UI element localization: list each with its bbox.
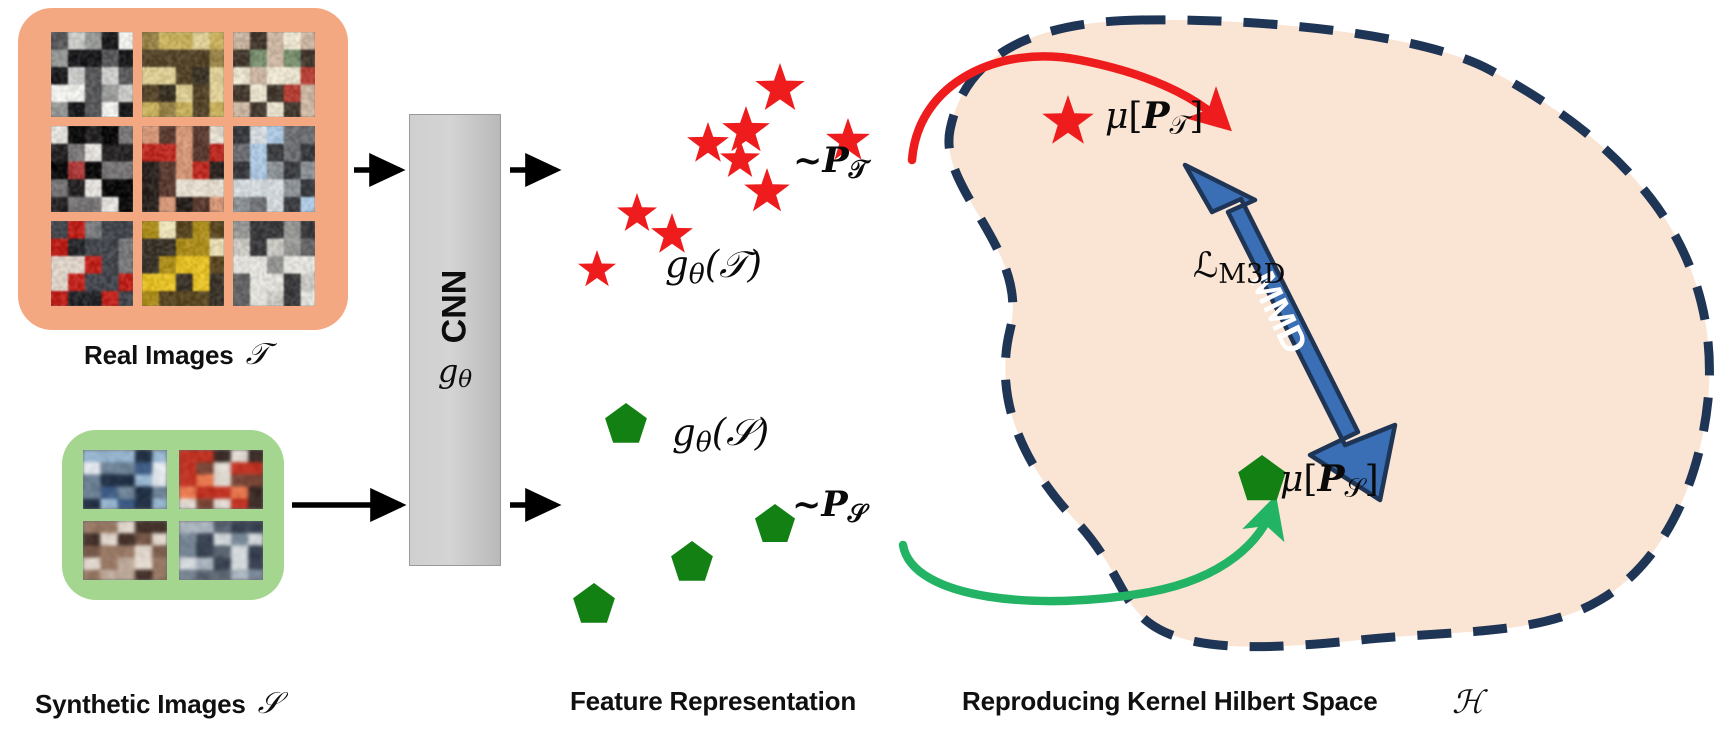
- synthetic-distribution-label: ~P𝒮: [792, 484, 867, 530]
- real-distribution-label: ~P𝒯: [793, 140, 868, 186]
- rkhs-symbol: ℋ: [1452, 683, 1483, 721]
- diagram-canvas: Real Images𝒯 Synthetic Images𝒮 CNN gθ: [0, 0, 1730, 745]
- rkhs-caption: Reproducing Kernel Hilbert Space: [962, 686, 1377, 717]
- mean-embedding-real-label: μ[P𝒯]: [1105, 95, 1203, 142]
- loss-label: ℒM3D: [1193, 246, 1285, 290]
- mean-embedding-synthetic-label: μ[P𝒮]: [1280, 458, 1379, 505]
- hilbert-space-layer: MMD: [0, 0, 1730, 745]
